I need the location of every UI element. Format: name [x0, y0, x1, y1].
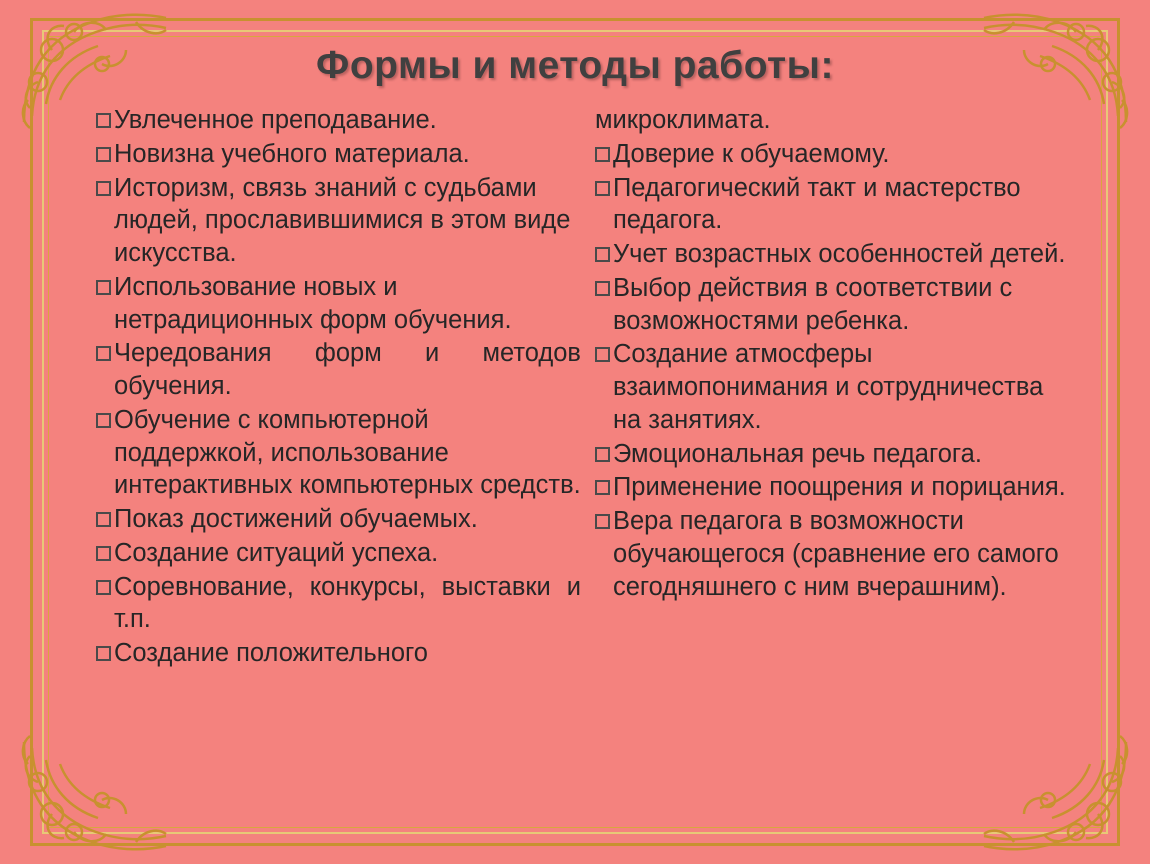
list-item-continuation: микроклимата. [595, 104, 1070, 137]
list-item-label: Создание положительного [114, 637, 581, 670]
square-bullet-icon [96, 646, 111, 661]
list-item: Выбор действия в соответствии с возможно… [595, 272, 1070, 338]
list-item: Вера педагога в возможности обучающегося… [595, 505, 1070, 603]
list-item-label: Педагогический такт и мастерство педагог… [613, 172, 1070, 238]
list-item-label: Обучение с компьютерной поддержкой, испо… [114, 404, 581, 502]
list-item-label: Показ достижений обучаемых. [114, 503, 581, 536]
list-item-label: Увлеченное преподавание. [114, 104, 581, 137]
square-bullet-icon [595, 281, 610, 296]
list-item-label: Чередования форм и методов обучения. [114, 337, 581, 403]
list-item-label: Эмоциональная речь педагога. [613, 438, 1070, 471]
square-bullet-icon [96, 181, 111, 196]
square-bullet-icon [96, 280, 111, 295]
list-item-label: Соревнование, конкурсы, выставки и т.п. [114, 571, 581, 637]
list-item: Создание атмосферы взаимопонимания и сот… [595, 338, 1070, 436]
list-item: Соревнование, конкурсы, выставки и т.п. [96, 571, 581, 637]
list-item-label: Создание атмосферы взаимопонимания и сот… [613, 338, 1070, 436]
list-item: Обучение с компьютерной поддержкой, испо… [96, 404, 581, 502]
bullet-list-left: Увлеченное преподавание. Новизна учебног… [96, 104, 581, 864]
square-bullet-icon [595, 181, 610, 196]
slide-title: Формы и методы работы: [0, 44, 1150, 88]
list-item-label: Новизна учебного материала. [114, 138, 581, 171]
square-bullet-icon [595, 247, 610, 262]
list-item-label: микроклимата. [595, 104, 1070, 137]
list-item-label: Доверие к обучаемому. [613, 138, 1070, 171]
bullet-list-right: микроклимата. Доверие к обучаемому. Педа… [595, 104, 1070, 864]
list-item: Учет возрастных особенностей детей. [595, 238, 1070, 271]
list-item: Использование новых и нетрадиционных фор… [96, 271, 581, 337]
list-item: Новизна учебного материала. [96, 138, 581, 171]
list-item-label: Применение поощрения и порицания. [613, 471, 1070, 504]
list-item: Применение поощрения и порицания. [595, 471, 1070, 504]
list-item: Создание ситуаций успеха. [96, 537, 581, 570]
list-item: Доверие к обучаемому. [595, 138, 1070, 171]
square-bullet-icon [595, 147, 610, 162]
square-bullet-icon [595, 347, 610, 362]
square-bullet-icon [96, 346, 111, 361]
content-columns: Увлеченное преподавание. Новизна учебног… [96, 104, 1070, 864]
square-bullet-icon [96, 113, 111, 128]
list-item-label: Выбор действия в соответствии с возможно… [613, 272, 1070, 338]
square-bullet-icon [96, 413, 111, 428]
list-item-label: Историзм, связь знаний с судьбами людей,… [114, 172, 581, 270]
list-item-label: Создание ситуаций успеха. [114, 537, 581, 570]
list-item: Педагогический такт и мастерство педагог… [595, 172, 1070, 238]
list-item: Чередования форм и методов обучения. [96, 337, 581, 403]
square-bullet-icon [595, 447, 610, 462]
list-item-label: Учет возрастных особенностей детей. [613, 238, 1070, 271]
square-bullet-icon [96, 512, 111, 527]
list-item: Показ достижений обучаемых. [96, 503, 581, 536]
square-bullet-icon [595, 514, 610, 529]
square-bullet-icon [96, 580, 111, 595]
square-bullet-icon [595, 480, 610, 495]
list-item: Увлеченное преподавание. [96, 104, 581, 137]
list-item: Эмоциональная речь педагога. [595, 438, 1070, 471]
list-item-label: Использование новых и нетрадиционных фор… [114, 271, 581, 337]
list-item-label: Вера педагога в возможности обучающегося… [613, 505, 1070, 603]
list-item: Создание положительного [96, 637, 581, 670]
square-bullet-icon [96, 546, 111, 561]
square-bullet-icon [96, 147, 111, 162]
list-item: Историзм, связь знаний с судьбами людей,… [96, 172, 581, 270]
slide: Формы и методы работы: Увлеченное препод… [0, 0, 1150, 864]
